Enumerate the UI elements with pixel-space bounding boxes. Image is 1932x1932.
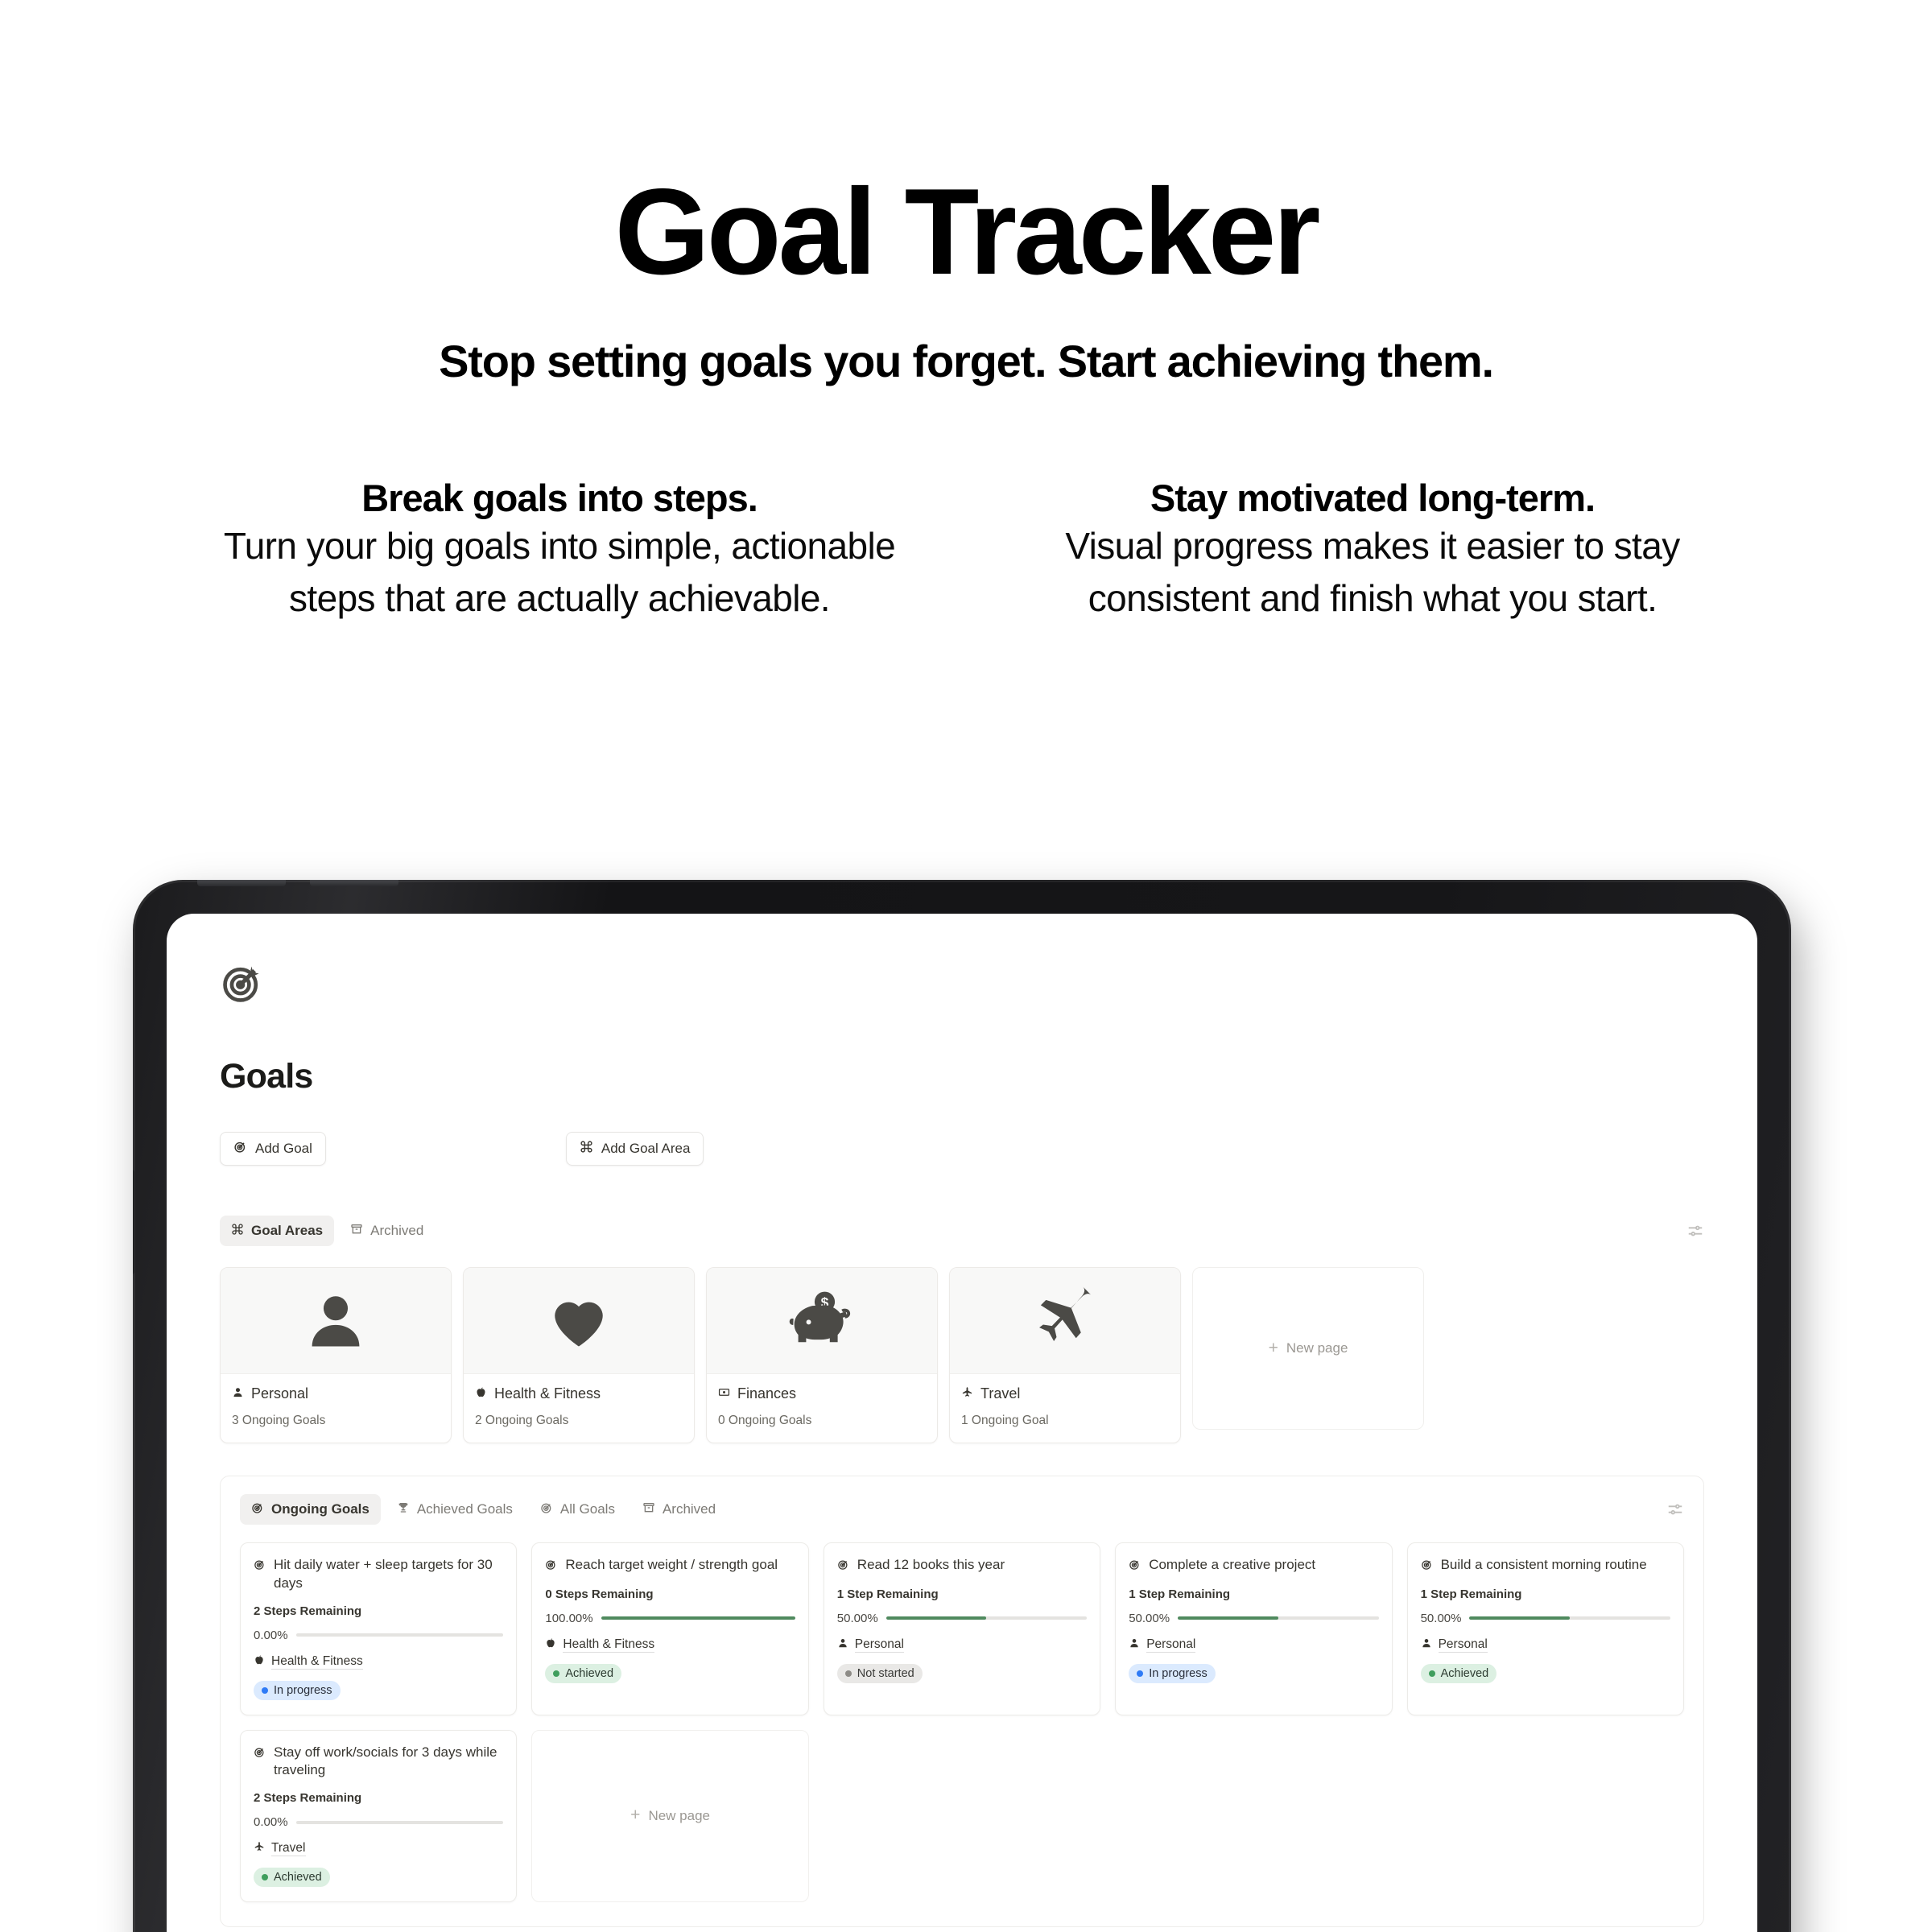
goal-card[interactable]: Read 12 books this year 1 Step Remaining… bbox=[824, 1542, 1100, 1715]
goal-title: Build a consistent morning routine bbox=[1441, 1556, 1647, 1575]
target-icon bbox=[1421, 1558, 1433, 1576]
status-dot-icon bbox=[845, 1670, 852, 1677]
status-badge: Achieved bbox=[254, 1868, 330, 1887]
tab-goal-areas[interactable]: Goal Areas bbox=[220, 1216, 334, 1246]
status-dot-icon bbox=[262, 1874, 268, 1880]
goal-area-name: Personal bbox=[1146, 1637, 1195, 1653]
plus-icon: + bbox=[1269, 1342, 1278, 1356]
goal-area-name-row: Health & Fitness bbox=[475, 1385, 683, 1402]
goal-area-ref[interactable]: Health & Fitness bbox=[254, 1654, 503, 1670]
goal-progress-percent: 50.00% bbox=[1129, 1612, 1170, 1625]
goal-title-row: Build a consistent morning routine bbox=[1421, 1556, 1670, 1576]
goal-area-card[interactable]: $ bbox=[706, 1267, 938, 1443]
filter-icon[interactable] bbox=[1666, 1501, 1684, 1518]
feature-list: Break goals into steps. Turn your big go… bbox=[0, 476, 1932, 625]
goal-area-name: Travel bbox=[271, 1841, 306, 1856]
status-dot-icon bbox=[553, 1670, 559, 1677]
add-goal-area-button[interactable]: Add Goal Area bbox=[566, 1132, 704, 1166]
airplane-icon bbox=[961, 1385, 973, 1402]
feature-title: Break goals into steps. bbox=[205, 476, 914, 520]
feature-title: Stay motivated long-term. bbox=[1018, 476, 1727, 520]
new-goal-card[interactable]: + New page bbox=[531, 1730, 808, 1903]
airplane-cover-icon bbox=[950, 1268, 1180, 1374]
status-badge: In progress bbox=[1129, 1664, 1216, 1683]
goal-card[interactable]: Hit daily water + sleep targets for 30 d… bbox=[240, 1542, 517, 1715]
apple-icon bbox=[475, 1385, 487, 1402]
goal-title-row: Hit daily water + sleep targets for 30 d… bbox=[254, 1556, 503, 1593]
target-icon bbox=[545, 1558, 557, 1576]
plus-icon: + bbox=[630, 1809, 640, 1823]
goal-area-count: 3 Ongoing Goals bbox=[232, 1414, 440, 1428]
tab-ongoing-goals[interactable]: Ongoing Goals bbox=[240, 1494, 381, 1525]
goal-progress: 0.00% bbox=[254, 1629, 503, 1642]
goal-area-ref[interactable]: Personal bbox=[1129, 1637, 1378, 1653]
feature-item: Stay motivated long-term. Visual progres… bbox=[1018, 476, 1727, 625]
volume-down-button[interactable] bbox=[310, 880, 398, 886]
goal-card[interactable]: Complete a creative project 1 Step Remai… bbox=[1115, 1542, 1392, 1715]
target-icon bbox=[540, 1501, 553, 1518]
goal-progress-bar bbox=[886, 1616, 1088, 1620]
target-icon bbox=[254, 1558, 266, 1576]
goal-area-name: Personal bbox=[1439, 1637, 1488, 1653]
poster-root: Goal Tracker Stop setting goals you forg… bbox=[0, 0, 1932, 1932]
tab-ongoing-goals-label: Ongoing Goals bbox=[271, 1501, 369, 1517]
status-label: Achieved bbox=[1441, 1667, 1489, 1680]
goal-progress-bar bbox=[296, 1821, 504, 1824]
goal-title-row: Stay off work/socials for 3 days while t… bbox=[254, 1744, 503, 1781]
person-icon bbox=[837, 1637, 848, 1653]
airplane-icon bbox=[254, 1841, 265, 1856]
status-label: In progress bbox=[1149, 1667, 1207, 1680]
goal-steps-remaining: 1 Step Remaining bbox=[1421, 1587, 1670, 1601]
goal-area-ref[interactable]: Travel bbox=[254, 1841, 503, 1856]
status-dot-icon bbox=[1429, 1670, 1435, 1677]
hero-section: Goal Tracker Stop setting goals you forg… bbox=[0, 0, 1932, 625]
goal-tabs: Ongoing Goals Achieved Goals bbox=[240, 1494, 1684, 1525]
goal-cards-grid: Hit daily water + sleep targets for 30 d… bbox=[240, 1542, 1684, 1902]
goal-progress: 50.00% bbox=[1129, 1612, 1378, 1625]
goals-board: Ongoing Goals Achieved Goals bbox=[220, 1476, 1704, 1927]
hero-title: Goal Tracker bbox=[0, 171, 1932, 293]
goal-area-label: Personal bbox=[251, 1385, 308, 1402]
status-badge: Achieved bbox=[1421, 1664, 1497, 1683]
feature-body: Visual progress makes it easier to stay … bbox=[1018, 520, 1727, 625]
trophy-icon bbox=[397, 1501, 410, 1518]
command-icon bbox=[580, 1140, 593, 1158]
tablet-bezel: Goals Add Goal bbox=[133, 880, 1791, 1932]
tab-achieved-goals-label: Achieved Goals bbox=[417, 1501, 513, 1517]
tablet-screen: Goals Add Goal bbox=[167, 914, 1757, 1932]
goal-area-name: Health & Fitness bbox=[271, 1654, 363, 1670]
status-dot-icon bbox=[1137, 1670, 1143, 1677]
goal-steps-remaining: 2 Steps Remaining bbox=[254, 1791, 503, 1805]
apple-icon bbox=[545, 1637, 556, 1653]
goal-progress: 50.00% bbox=[1421, 1612, 1670, 1625]
goal-steps-remaining: 2 Steps Remaining bbox=[254, 1604, 503, 1618]
goal-progress-bar bbox=[296, 1633, 504, 1637]
status-badge: In progress bbox=[254, 1681, 341, 1700]
goal-progress: 50.00% bbox=[837, 1612, 1087, 1625]
goal-area-tabs: Goal Areas Archived bbox=[220, 1216, 1704, 1246]
action-buttons: Add Goal Add Goal Area bbox=[220, 1132, 1704, 1166]
goal-progress-percent: 50.00% bbox=[837, 1612, 878, 1625]
status-label: In progress bbox=[274, 1684, 332, 1697]
goal-progress: 0.00% bbox=[254, 1815, 503, 1829]
goal-area-name-row: Personal bbox=[232, 1385, 440, 1402]
new-page-label: New page bbox=[648, 1808, 710, 1824]
goal-area-count: 2 Ongoing Goals bbox=[475, 1414, 683, 1428]
add-goal-area-label: Add Goal Area bbox=[601, 1141, 691, 1157]
target-icon bbox=[254, 1745, 266, 1764]
goal-steps-remaining: 0 Steps Remaining bbox=[545, 1587, 795, 1601]
status-dot-icon bbox=[262, 1687, 268, 1694]
goal-area-name: Health & Fitness bbox=[563, 1637, 654, 1653]
tab-goal-areas-label: Goal Areas bbox=[251, 1223, 323, 1239]
page-title: Goals bbox=[220, 1057, 1704, 1096]
goal-area-label: Health & Fitness bbox=[494, 1385, 601, 1402]
tab-archived-goals[interactable]: Archived bbox=[631, 1494, 727, 1525]
goal-areas-gallery: Personal 3 Ongoing Goals bbox=[220, 1267, 1704, 1443]
goal-area-label: Travel bbox=[980, 1385, 1020, 1402]
money-icon bbox=[718, 1385, 730, 1402]
goal-area-name-row: Finances bbox=[718, 1385, 926, 1402]
tab-archived-areas[interactable]: Archived bbox=[339, 1216, 435, 1246]
target-icon bbox=[220, 960, 265, 1005]
goal-progress-percent: 0.00% bbox=[254, 1815, 288, 1829]
goal-area-count: 1 Ongoing Goal bbox=[961, 1414, 1169, 1428]
command-icon bbox=[231, 1223, 244, 1240]
goal-title: Read 12 books this year bbox=[857, 1556, 1005, 1575]
goal-title: Complete a creative project bbox=[1149, 1556, 1315, 1575]
goal-card[interactable]: Build a consistent morning routine 1 Ste… bbox=[1407, 1542, 1684, 1715]
heart-cover-icon bbox=[464, 1268, 694, 1374]
new-goal-area-card[interactable]: + New page bbox=[1192, 1267, 1424, 1430]
goal-title: Stay off work/socials for 3 days while t… bbox=[274, 1744, 503, 1781]
person-icon bbox=[232, 1385, 244, 1402]
goal-progress-percent: 100.00% bbox=[545, 1612, 592, 1625]
goal-steps-remaining: 1 Step Remaining bbox=[1129, 1587, 1378, 1601]
filter-icon[interactable] bbox=[1686, 1222, 1704, 1240]
tab-archived-areas-label: Archived bbox=[370, 1223, 423, 1239]
volume-up-button[interactable] bbox=[197, 880, 286, 886]
goal-area-name: Personal bbox=[855, 1637, 904, 1653]
person-icon bbox=[1129, 1637, 1140, 1653]
goal-area-card[interactable]: Travel 1 Ongoing Goal bbox=[949, 1267, 1181, 1443]
target-icon bbox=[233, 1140, 247, 1158]
goal-progress-percent: 50.00% bbox=[1421, 1612, 1462, 1625]
target-icon bbox=[837, 1558, 849, 1576]
new-page-label: New page bbox=[1286, 1340, 1348, 1356]
goal-area-card[interactable]: Health & Fitness 2 Ongoing Goals bbox=[463, 1267, 695, 1443]
status-badge: Not started bbox=[837, 1664, 923, 1683]
goal-area-ref[interactable]: Health & Fitness bbox=[545, 1637, 795, 1653]
goal-progress: 100.00% bbox=[545, 1612, 795, 1625]
feature-body: Turn your big goals into simple, actiona… bbox=[205, 520, 914, 625]
apple-icon bbox=[254, 1654, 265, 1670]
goal-area-ref[interactable]: Personal bbox=[1421, 1637, 1670, 1653]
person-cover-icon bbox=[221, 1268, 451, 1374]
hero-subtitle: Stop setting goals you forget. Start ach… bbox=[0, 335, 1932, 387]
goal-progress-bar bbox=[1178, 1616, 1379, 1620]
power-button[interactable] bbox=[133, 1170, 134, 1274]
goal-title-row: Complete a creative project bbox=[1129, 1556, 1378, 1576]
goal-title-row: Reach target weight / strength goal bbox=[545, 1556, 795, 1576]
goal-area-ref[interactable]: Personal bbox=[837, 1637, 1087, 1653]
target-icon bbox=[251, 1501, 264, 1518]
status-label: Achieved bbox=[565, 1667, 613, 1680]
add-goal-button[interactable]: Add Goal bbox=[220, 1132, 326, 1166]
goal-steps-remaining: 1 Step Remaining bbox=[837, 1587, 1087, 1601]
goal-card[interactable]: Reach target weight / strength goal 0 St… bbox=[531, 1542, 808, 1715]
tab-achieved-goals[interactable]: Achieved Goals bbox=[386, 1494, 524, 1525]
goal-progress-bar bbox=[1469, 1616, 1670, 1620]
archive-icon bbox=[642, 1501, 655, 1518]
tab-all-goals-label: All Goals bbox=[560, 1501, 615, 1517]
person-icon bbox=[1421, 1637, 1432, 1653]
tab-archived-goals-label: Archived bbox=[663, 1501, 716, 1517]
goal-area-name-row: Travel bbox=[961, 1385, 1169, 1402]
feature-item: Break goals into steps. Turn your big go… bbox=[205, 476, 914, 625]
goal-area-label: Finances bbox=[737, 1385, 796, 1402]
goal-title-row: Read 12 books this year bbox=[837, 1556, 1087, 1576]
goal-progress-bar bbox=[601, 1616, 795, 1620]
status-label: Achieved bbox=[274, 1871, 322, 1884]
piggybank-cover-icon: $ bbox=[707, 1268, 937, 1374]
tab-all-goals[interactable]: All Goals bbox=[529, 1494, 626, 1525]
goal-title: Reach target weight / strength goal bbox=[565, 1556, 778, 1575]
goal-area-card[interactable]: Personal 3 Ongoing Goals bbox=[220, 1267, 452, 1443]
goal-areas-section: Goal Areas Archived bbox=[220, 1216, 1704, 1443]
status-badge: Achieved bbox=[545, 1664, 621, 1683]
target-icon bbox=[1129, 1558, 1141, 1576]
goal-title: Hit daily water + sleep targets for 30 d… bbox=[274, 1556, 503, 1593]
goal-progress-percent: 0.00% bbox=[254, 1629, 288, 1642]
archive-icon bbox=[350, 1223, 363, 1240]
add-goal-label: Add Goal bbox=[255, 1141, 312, 1157]
goal-card[interactable]: Stay off work/socials for 3 days while t… bbox=[240, 1730, 517, 1903]
goal-area-count: 0 Ongoing Goals bbox=[718, 1414, 926, 1428]
tablet-mockup: Goals Add Goal bbox=[133, 880, 1811, 1932]
status-label: Not started bbox=[857, 1667, 914, 1680]
